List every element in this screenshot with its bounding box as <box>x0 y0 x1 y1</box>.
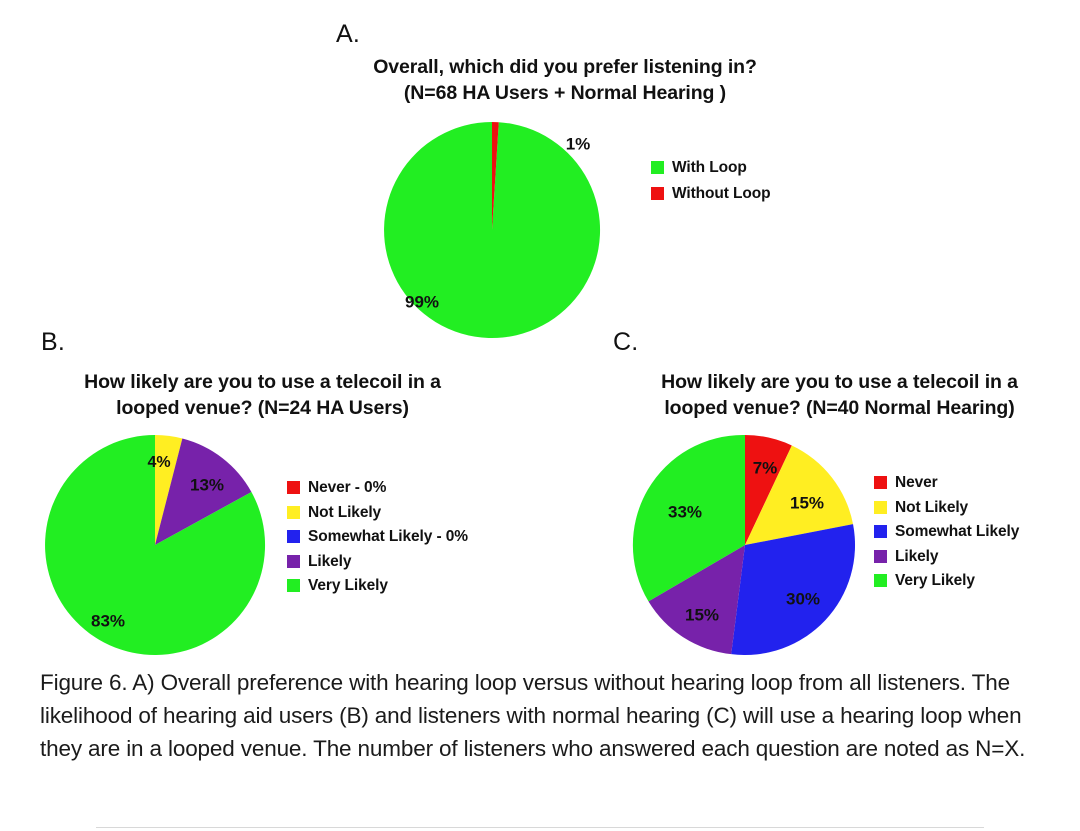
pie-chart-c: 7% 15% 30% 15% 33% <box>635 435 855 655</box>
panel-c: C. How likely are you to use a telecoil … <box>540 330 1080 666</box>
bottom-divider <box>96 827 984 828</box>
panel-a-title: Overall, which did you prefer listening … <box>300 55 830 106</box>
legend-label-somewhat-likely: Somewhat Likely - 0% <box>308 529 468 545</box>
legend-label-somewhat-likely: Somewhat Likely <box>895 524 1019 540</box>
legend-item-with-loop: With Loop <box>651 160 771 176</box>
legend-a: With Loop Without Loop <box>651 160 771 201</box>
panel-a-letter: A. <box>336 22 360 47</box>
legend-item-very-likely: Very Likely <box>287 578 468 594</box>
legend-swatch-not-likely-icon <box>874 501 887 514</box>
legend-item-likely: Likely <box>287 554 468 570</box>
legend-swatch-never-icon <box>287 481 300 494</box>
legend-label-never: Never <box>895 475 938 491</box>
legend-label-likely: Likely <box>308 554 351 570</box>
panel-b-title: How likely are you to use a telecoil in … <box>20 370 505 421</box>
legend-item-somewhat-likely: Somewhat Likely - 0% <box>287 529 468 545</box>
legend-label-very-likely: Very Likely <box>308 578 388 594</box>
figure-6: A. Overall, which did you prefer listeni… <box>0 0 1080 831</box>
legend-swatch-not-likely-icon <box>287 506 300 519</box>
legend-item-likely: Likely <box>874 549 1019 565</box>
legend-label-never: Never - 0% <box>308 480 386 496</box>
legend-swatch-very-likely-icon <box>874 574 887 587</box>
legend-label-likely: Likely <box>895 549 938 565</box>
panel-b: B. How likely are you to use a telecoil … <box>0 330 540 666</box>
legend-item-never: Never <box>874 475 1019 491</box>
legend-label-with-loop: With Loop <box>672 160 747 176</box>
panel-b-title-line1: How likely are you to use a telecoil in … <box>20 370 505 396</box>
legend-swatch-without-loop-icon <box>651 187 664 200</box>
legend-swatch-never-icon <box>874 476 887 489</box>
legend-label-without-loop: Without Loop <box>672 186 771 202</box>
legend-item-not-likely: Not Likely <box>874 500 1019 516</box>
panel-a-title-line2: (N=68 HA Users + Normal Hearing ) <box>300 81 830 107</box>
legend-swatch-somewhat-likely-icon <box>874 525 887 538</box>
legend-c: Never Not Likely Somewhat Likely Likely … <box>874 475 1019 598</box>
legend-item-very-likely: Very Likely <box>874 573 1019 589</box>
legend-label-not-likely: Not Likely <box>895 500 968 516</box>
legend-label-not-likely: Not Likely <box>308 505 381 521</box>
legend-b: Never - 0% Not Likely Somewhat Likely - … <box>287 480 468 603</box>
legend-item-somewhat-likely: Somewhat Likely <box>874 524 1019 540</box>
legend-swatch-very-likely-icon <box>287 579 300 592</box>
panel-c-title-line1: How likely are you to use a telecoil in … <box>592 370 1080 396</box>
legend-label-very-likely: Very Likely <box>895 573 975 589</box>
panel-b-letter: B. <box>41 330 65 355</box>
legend-item-not-likely: Not Likely <box>287 505 468 521</box>
panel-b-title-line2: looped venue? (N=24 HA Users) <box>20 396 505 422</box>
panel-c-title: How likely are you to use a telecoil in … <box>592 370 1080 421</box>
legend-swatch-likely-icon <box>287 555 300 568</box>
legend-swatch-with-loop-icon <box>651 161 664 174</box>
figure-caption: Figure 6. A) Overall preference with hea… <box>40 666 1046 765</box>
pie-chart-a: 99% 1% <box>384 122 600 338</box>
legend-item-without-loop: Without Loop <box>651 186 771 202</box>
panel-c-title-line2: looped venue? (N=40 Normal Hearing) <box>592 396 1080 422</box>
panel-a-title-line1: Overall, which did you prefer listening … <box>300 55 830 81</box>
legend-swatch-somewhat-likely-icon <box>287 530 300 543</box>
pie-chart-b: 4% 13% 83% <box>45 435 265 655</box>
legend-swatch-likely-icon <box>874 550 887 563</box>
panel-c-letter: C. <box>613 330 638 355</box>
panel-a: A. Overall, which did you prefer listeni… <box>0 0 1080 330</box>
legend-item-never: Never - 0% <box>287 480 468 496</box>
